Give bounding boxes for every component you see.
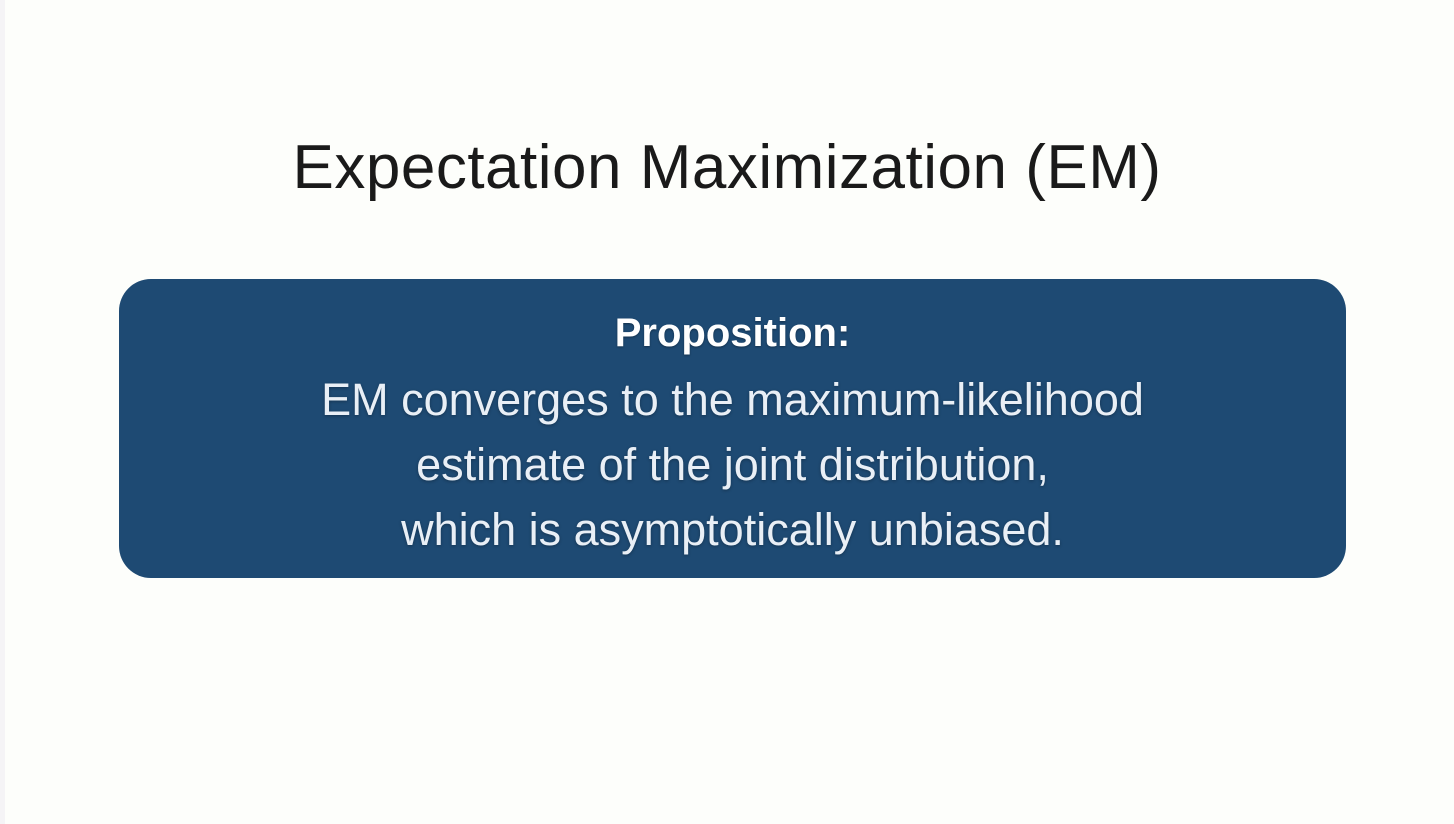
proposition-body-line-1: EM converges to the maximum-likelihood <box>321 367 1144 432</box>
presentation-slide: Expectation Maximization (EM) Propositio… <box>0 0 1454 824</box>
proposition-body-line-2: estimate of the joint distribution, <box>321 432 1144 497</box>
page-title: Expectation Maximization (EM) <box>0 128 1454 208</box>
proposition-body-line-3: which is asymptotically unbiased. <box>321 497 1144 562</box>
proposition-callout-box: Proposition: EM converges to the maximum… <box>119 279 1346 578</box>
proposition-heading: Proposition: <box>615 307 851 359</box>
left-edge-strip <box>0 0 5 824</box>
proposition-body: EM converges to the maximum-likelihood e… <box>321 367 1144 562</box>
